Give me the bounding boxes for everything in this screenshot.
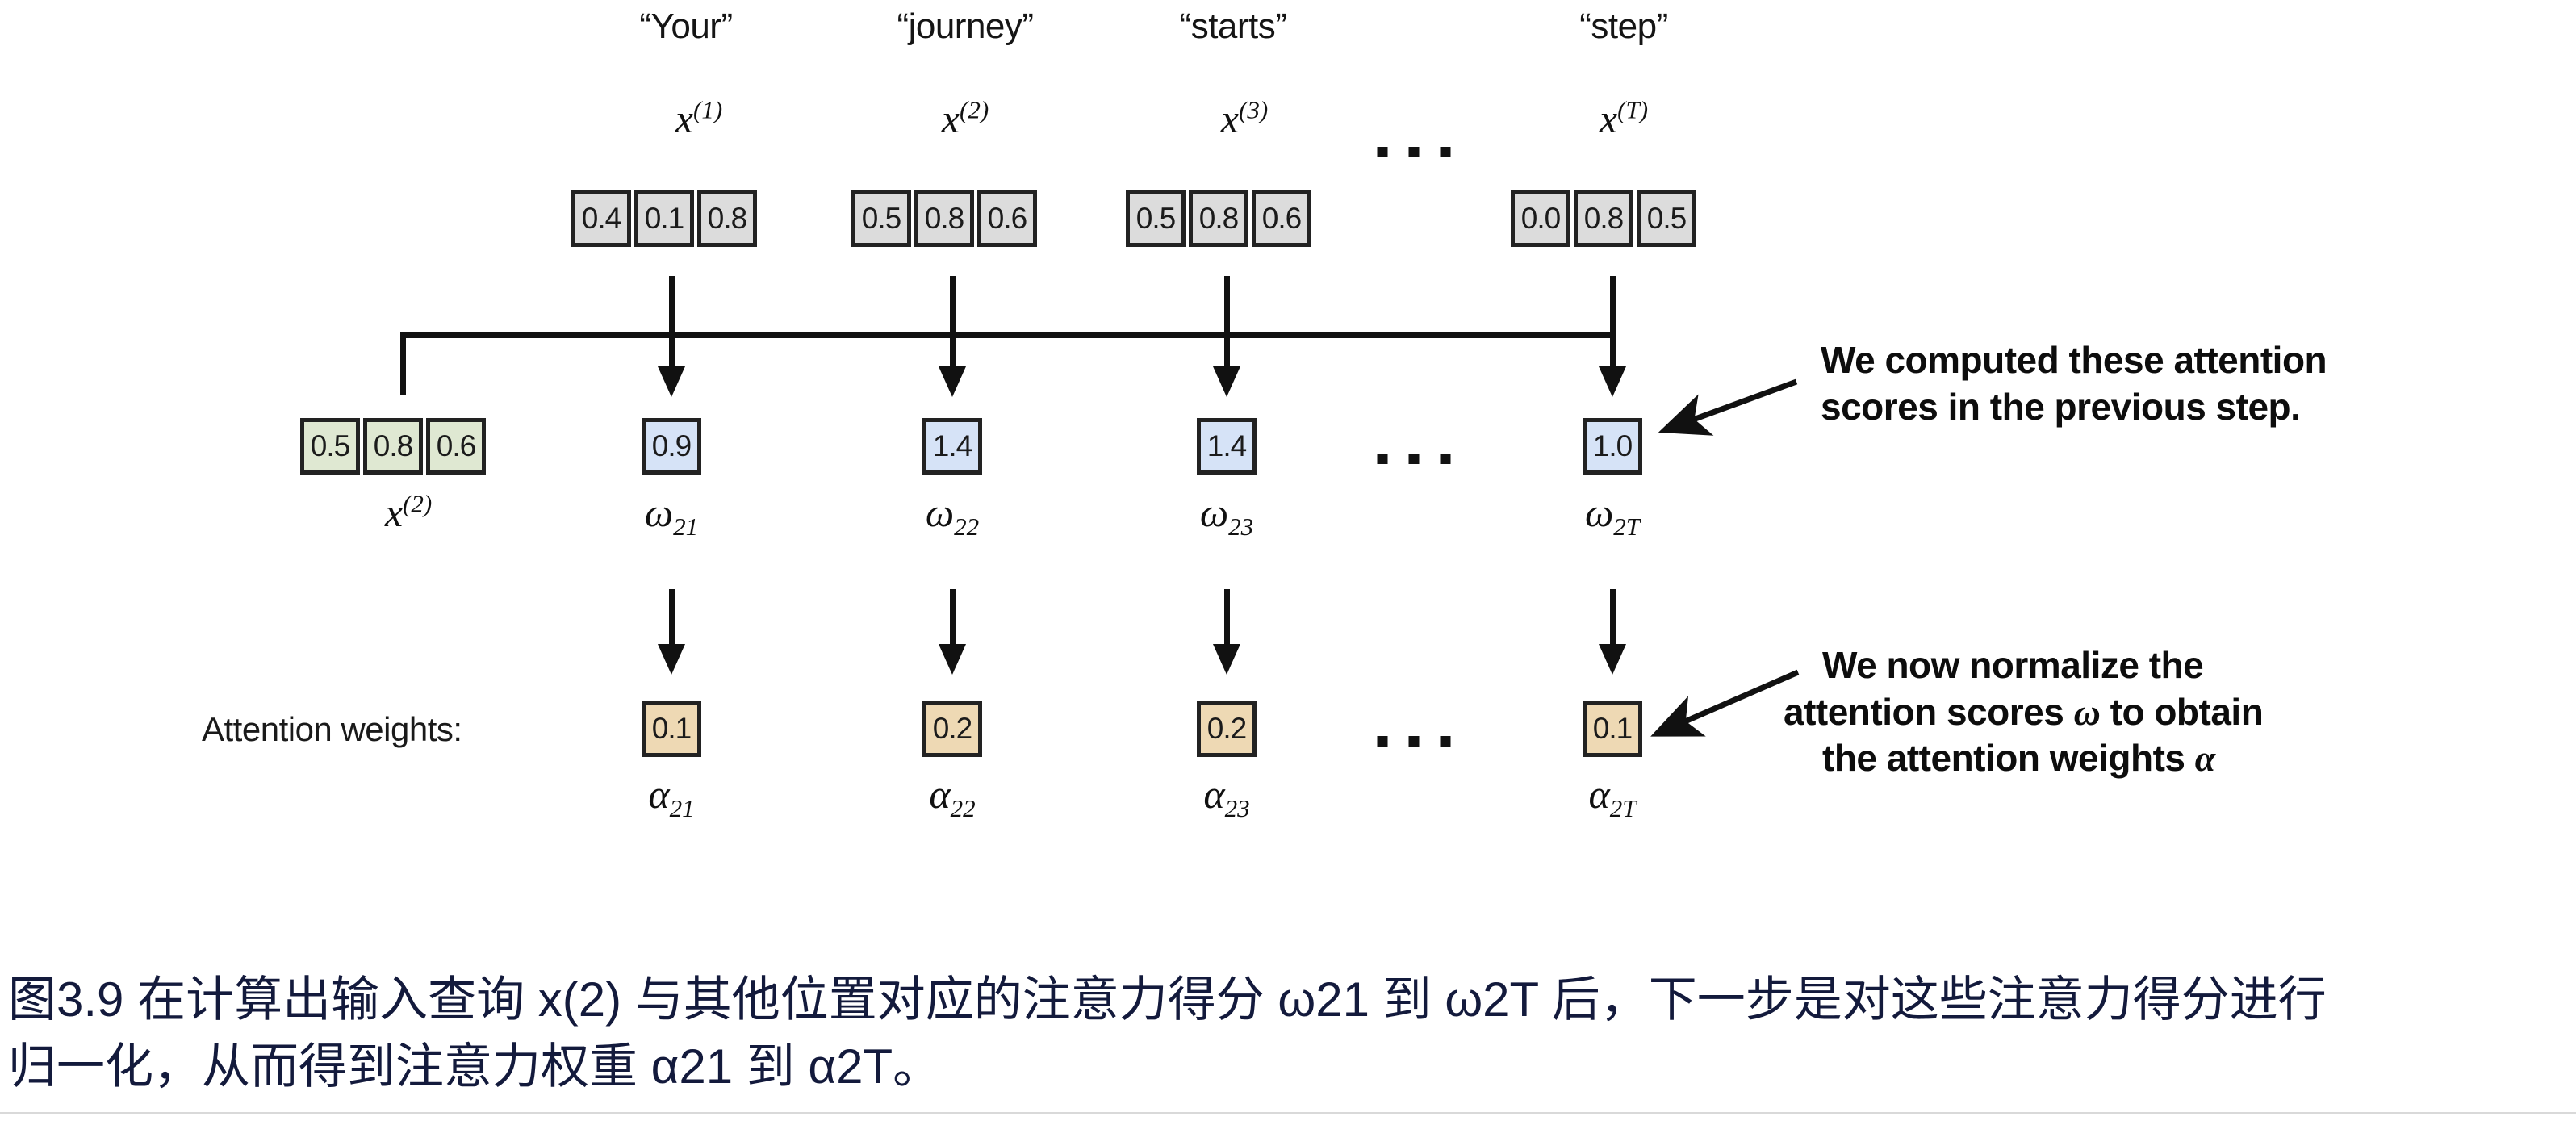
weight-cell: 0.2 <box>922 701 982 757</box>
normalize-note-line-1: We now normalize the <box>1822 642 2263 689</box>
weight-label-base-2: α <box>929 772 950 817</box>
normalize-note-l3-a: the attention weights <box>1822 737 2195 779</box>
normalize-note-l2-c: to obtain <box>2100 691 2263 733</box>
input-cell: 0.6 <box>977 190 1037 247</box>
attention-score-label-1: ω21 <box>645 489 698 542</box>
input-vector-3: 0.5 0.8 0.6 <box>1126 190 1311 247</box>
score-cell: 1.4 <box>922 418 982 475</box>
score-label-sub-3: 23 <box>1228 512 1253 541</box>
input-cell: 0.5 <box>1637 190 1696 247</box>
score-label-sub-2: 22 <box>954 512 979 541</box>
connector-bus-horizontal <box>400 332 1616 338</box>
attention-weight-label-4: α2T <box>1589 771 1637 823</box>
weight-label-sub-2: 22 <box>951 794 976 822</box>
query-cell: 0.8 <box>363 418 423 475</box>
input-var-base-2: x <box>942 96 960 141</box>
weight-label-base-1: α <box>648 772 669 817</box>
figure-canvas: “Your” “journey” “starts” “step” x(1) x(… <box>0 0 2576 1125</box>
attention-weight-label-1: α21 <box>648 771 694 823</box>
bottom-rule <box>0 1112 2576 1114</box>
input-var-label-4: x(T) <box>1600 95 1648 142</box>
row1-ellipsis <box>1378 147 1451 157</box>
input-var-base-1: x <box>675 96 693 141</box>
attention-weight-box-3: 0.2 <box>1197 701 1257 757</box>
input-var-sup-2: (2) <box>960 95 989 123</box>
scores-note-line-2: scores in the previous step. <box>1821 384 2327 431</box>
query-vector: 0.5 0.8 0.6 <box>300 418 486 475</box>
score-cell: 1.4 <box>1197 418 1257 475</box>
normalize-note-line-2: attention scores ω to obtain <box>1784 689 2263 736</box>
score-label-sub-4: 2T <box>1613 512 1640 541</box>
attention-weight-box-1: 0.1 <box>642 701 701 757</box>
input-cell: 0.8 <box>914 190 974 247</box>
attention-score-box-3: 1.4 <box>1197 418 1257 475</box>
attention-score-label-4: ω2T <box>1585 489 1640 542</box>
weight-label-base-3: α <box>1203 772 1224 817</box>
input-var-label-2: x(2) <box>942 95 989 142</box>
attention-weight-box-2: 0.2 <box>922 701 982 757</box>
scores-note-line-1: We computed these attention <box>1821 337 2327 384</box>
normalize-note-line-3: the attention weights α <box>1822 735 2263 782</box>
scores-note: We computed these attention scores in th… <box>1821 337 2327 430</box>
weight-cell: 0.1 <box>642 701 701 757</box>
caption-line-2: 归一化，从而得到注意力权重 α21 到 α2T。 <box>8 1034 2574 1101</box>
input-cell: 0.8 <box>1189 190 1248 247</box>
attention-score-label-2: ω22 <box>926 489 979 542</box>
token-word-3: “starts” <box>1180 6 1287 47</box>
caption-line-1: 图3.9 在计算出输入查询 x(2) 与其他位置对应的注意力得分 ω21 到 ω… <box>8 967 2574 1034</box>
weight-label-sub-3: 23 <box>1225 794 1250 822</box>
attention-score-box-2: 1.4 <box>922 418 982 475</box>
row3-ellipsis <box>1378 454 1451 464</box>
input-var-label-3: x(3) <box>1221 95 1268 142</box>
alpha-symbol: α <box>2195 738 2215 779</box>
normalize-note-l2-a: attention scores <box>1784 691 2074 733</box>
query-vector-label: x(2) <box>385 489 432 536</box>
weight-cell: 0.2 <box>1197 701 1257 757</box>
input-var-sup-4: (T) <box>1617 95 1648 123</box>
input-cell: 0.8 <box>1574 190 1633 247</box>
attention-score-box-4: 1.0 <box>1583 418 1642 475</box>
input-cell: 0.1 <box>634 190 694 247</box>
token-word-1: “Your” <box>639 6 732 47</box>
score-cell: 0.9 <box>642 418 701 475</box>
score-label-sub-1: 21 <box>673 512 698 541</box>
input-cell: 0.5 <box>851 190 911 247</box>
weight-label-base-4: α <box>1589 772 1610 817</box>
input-cell: 0.0 <box>1511 190 1570 247</box>
omega-symbol: ω <box>2074 692 2101 733</box>
query-cell: 0.6 <box>426 418 486 475</box>
row4-ellipsis <box>1378 736 1451 747</box>
score-label-base-3: ω <box>1200 490 1228 535</box>
figure-caption: 图3.9 在计算出输入查询 x(2) 与其他位置对应的注意力得分 ω21 到 ω… <box>8 967 2574 1101</box>
input-var-sup-1: (1) <box>693 95 722 123</box>
weight-label-sub-4: 2T <box>1610 794 1637 822</box>
attention-weights-label: Attention weights: <box>202 710 462 749</box>
input-vector-2: 0.5 0.8 0.6 <box>851 190 1037 247</box>
connector-bus-left-stub <box>400 332 406 395</box>
scores-note-arrow-icon <box>1638 367 1816 472</box>
score-label-base-1: ω <box>645 490 673 535</box>
query-cell: 0.5 <box>300 418 360 475</box>
score-label-base-4: ω <box>1585 490 1613 535</box>
attention-weight-label-2: α22 <box>929 771 975 823</box>
input-cell: 0.4 <box>571 190 631 247</box>
query-label-sup: (2) <box>403 489 432 517</box>
input-vector-1: 0.4 0.1 0.8 <box>571 190 757 247</box>
input-cell: 0.6 <box>1252 190 1311 247</box>
input-var-base-4: x <box>1600 96 1617 141</box>
input-cell: 0.8 <box>697 190 757 247</box>
attention-weight-label-3: α23 <box>1203 771 1249 823</box>
normalize-note: We now normalize the attention scores ω … <box>1784 642 2263 782</box>
input-var-label-1: x(1) <box>675 95 722 142</box>
score-label-base-2: ω <box>926 490 954 535</box>
input-var-base-3: x <box>1221 96 1239 141</box>
attention-score-label-3: ω23 <box>1200 489 1253 542</box>
weight-label-sub-1: 21 <box>670 794 695 822</box>
score-cell: 1.0 <box>1583 418 1642 475</box>
input-var-sup-3: (3) <box>1239 95 1268 123</box>
token-word-2: “journey” <box>897 6 1033 47</box>
attention-score-box-1: 0.9 <box>642 418 701 475</box>
token-word-4: “step” <box>1579 6 1667 47</box>
query-label-base: x <box>385 490 403 535</box>
input-cell: 0.5 <box>1126 190 1186 247</box>
input-vector-4: 0.0 0.8 0.5 <box>1511 190 1696 247</box>
